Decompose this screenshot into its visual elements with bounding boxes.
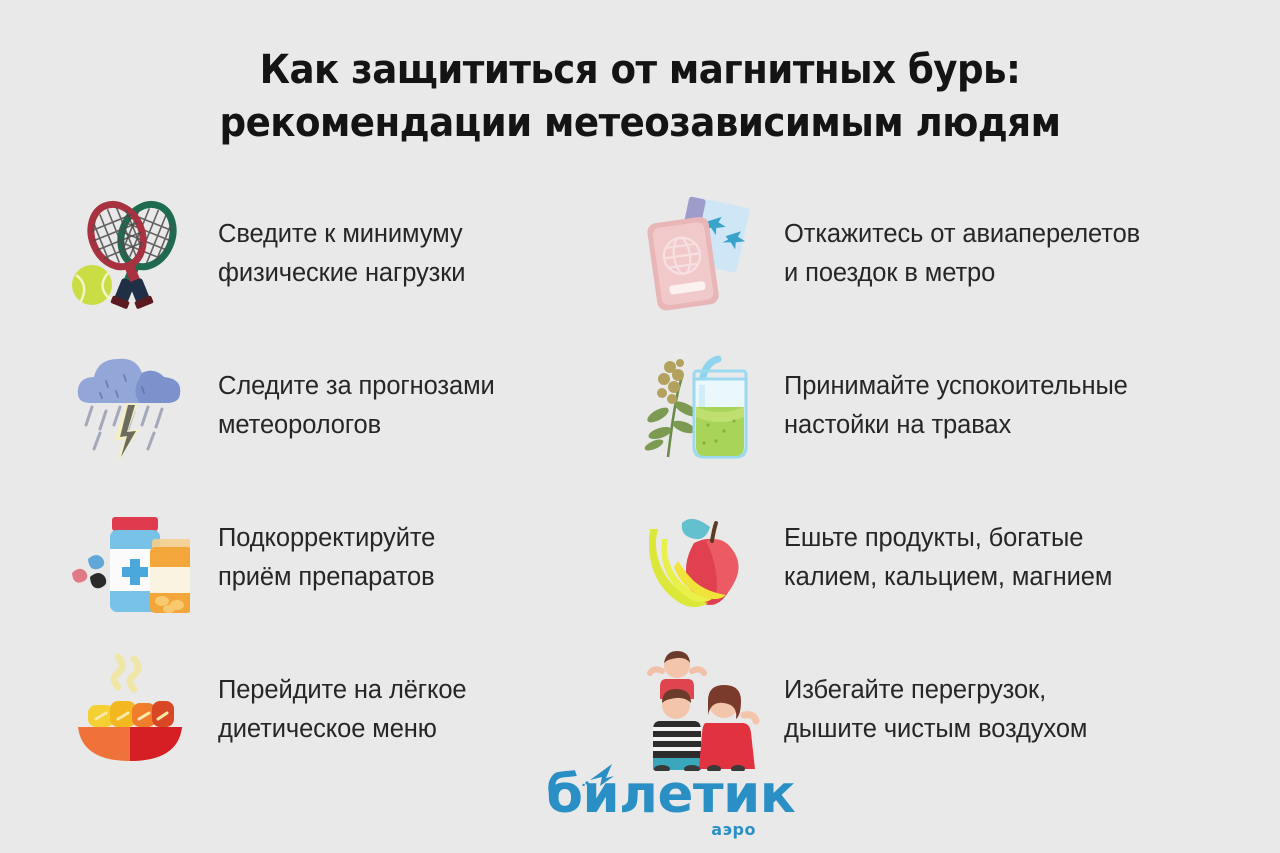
title-line-2: рекомендации метеозависимым людям [45, 97, 1235, 150]
tip-text-line-2: метеорологов [218, 406, 495, 445]
tip-text-line-2: физические нагрузки [218, 254, 465, 293]
tip-text-line-1: Сведите к минимуму [218, 220, 462, 248]
tip-text: Избегайте перегрузок, дышите чистым возд… [784, 671, 1087, 749]
brand-logo: билетик аэро [0, 762, 1280, 844]
fruits-icon [640, 497, 760, 619]
tip-text-line-2: диетическое меню [218, 710, 467, 749]
tip-text: Подкорректируйте приём препаратов [218, 519, 435, 597]
storm-cloud-icon [70, 345, 190, 467]
tip-text: Откажитесь от авиаперелетов и поездок в … [784, 215, 1140, 293]
tip-text: Ешьте продукты, богатые калием, кальцием… [784, 519, 1112, 597]
tip-item: Сведите к минимуму физические нагрузки [70, 178, 640, 330]
tip-text: Сведите к минимуму физические нагрузки [218, 215, 465, 293]
title-line-1: Как защититься от магнитных бурь: [45, 44, 1235, 97]
tip-text-line-2: и поездок в метро [784, 254, 1140, 293]
tip-text-line-1: Принимайте успокоительные [784, 372, 1128, 400]
page-title: Как защититься от магнитных бурь: рекоме… [0, 0, 1280, 150]
tips-grid: Сведите к минимуму физические нагрузки [0, 178, 1280, 786]
tip-text-line-1: Откажитесь от авиаперелетов [784, 220, 1140, 248]
tips-column-right: Откажитесь от авиаперелетов и поездок в … [640, 178, 1280, 786]
tip-text-line-2: настойки на травах [784, 406, 1128, 445]
herbal-jar-icon [640, 345, 760, 467]
tip-text-line-2: дышите чистым воздухом [784, 710, 1087, 749]
tip-text-line-2: приём препаратов [218, 558, 435, 597]
family-icon [640, 649, 760, 771]
tip-item: Откажитесь от авиаперелетов и поездок в … [640, 178, 1280, 330]
logo-suffix: аэро [711, 820, 756, 839]
logo-wordmark: билетик [546, 764, 795, 825]
tip-item: Принимайте успокоительные настойки на тр… [640, 330, 1280, 482]
tip-text-line-1: Подкорректируйте [218, 524, 435, 552]
tip-item: Следите за прогнозами метеорологов [70, 330, 640, 482]
food-bowl-icon [70, 649, 190, 771]
tips-column-left: Сведите к минимуму физические нагрузки [70, 178, 640, 786]
tip-text-line-1: Следите за прогнозами [218, 372, 495, 400]
tennis-rackets-icon [70, 193, 190, 315]
passport-tickets-icon [640, 193, 760, 315]
tip-item: Подкорректируйте приём препаратов [70, 482, 640, 634]
tip-text-line-1: Перейдите на лёгкое [218, 676, 467, 704]
tip-text-line-2: калием, кальцием, магнием [784, 558, 1112, 597]
tip-text-line-1: Ешьте продукты, богатые [784, 524, 1083, 552]
tip-item: Ешьте продукты, богатые калием, кальцием… [640, 482, 1280, 634]
medicine-bottles-icon [70, 497, 190, 619]
tip-text-line-1: Избегайте перегрузок, [784, 676, 1046, 704]
tip-text: Перейдите на лёгкое диетическое меню [218, 671, 467, 749]
tip-text: Принимайте успокоительные настойки на тр… [784, 367, 1128, 445]
tip-text: Следите за прогнозами метеорологов [218, 367, 495, 445]
